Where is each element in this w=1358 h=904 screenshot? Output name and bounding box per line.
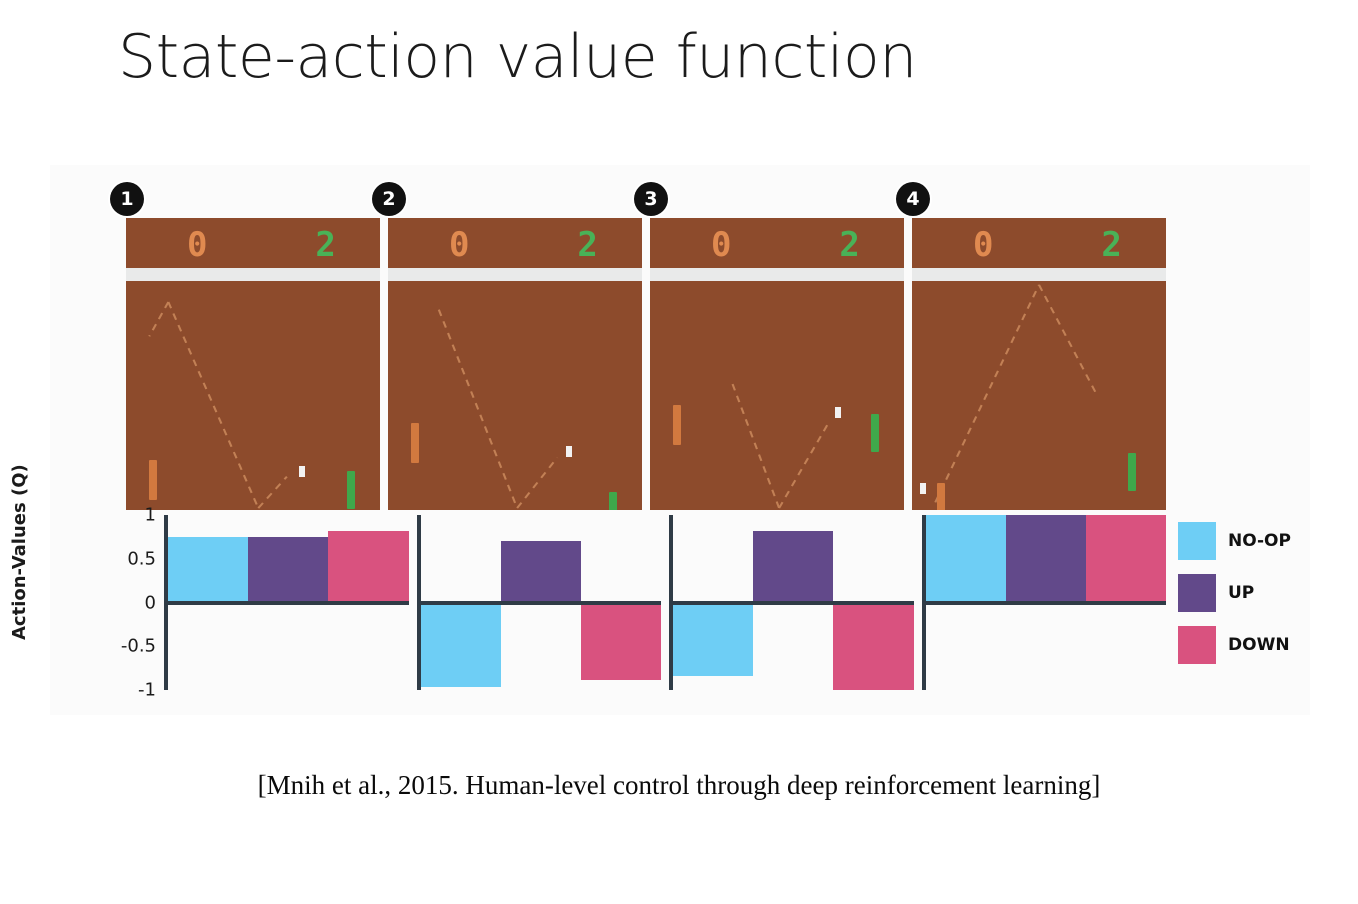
score-left: 0 xyxy=(449,228,470,262)
legend-swatch-down xyxy=(1178,626,1216,664)
bar-no-op[interactable] xyxy=(926,515,1006,603)
paddle-right-2 xyxy=(609,492,617,510)
y-tick: 1 xyxy=(145,505,156,526)
legend-swatch-no-op xyxy=(1178,522,1216,560)
chart-panels xyxy=(164,515,1166,690)
game-frame-3: 3 0 2 xyxy=(650,200,904,510)
bar-down[interactable] xyxy=(1086,515,1166,603)
action-values-chart: Action-Values (Q) 1 0.5 0 -0.5 -1 NO-OP … xyxy=(50,515,1310,710)
ball-trajectory-2 xyxy=(388,281,642,510)
divider-band xyxy=(388,268,642,281)
game-screen-3: 0 2 xyxy=(650,218,904,510)
game-screen-2: 0 2 xyxy=(388,218,642,510)
y-tick: 0 xyxy=(145,592,156,613)
bar-no-op[interactable] xyxy=(421,603,501,688)
ball-3 xyxy=(835,407,841,418)
score-left: 0 xyxy=(973,228,994,262)
ball-trajectory-1 xyxy=(126,281,380,510)
y-tick: 0.5 xyxy=(127,548,156,569)
divider-band xyxy=(912,268,1166,281)
score-band: 0 2 xyxy=(388,218,642,268)
bar-up[interactable] xyxy=(753,531,833,603)
divider-band xyxy=(650,268,904,281)
zero-baseline xyxy=(669,601,914,605)
paddle-right-4 xyxy=(1128,453,1136,491)
chart-panel-3 xyxy=(669,515,914,690)
frame-badge-1: 1 xyxy=(110,182,144,216)
playfield-3 xyxy=(650,281,904,510)
bar-up[interactable] xyxy=(1006,515,1086,603)
bar-down[interactable] xyxy=(581,603,661,680)
ball-1 xyxy=(299,466,305,477)
zero-baseline xyxy=(922,601,1167,605)
ball-4 xyxy=(920,483,926,494)
chart-panel-1 xyxy=(164,515,409,690)
score-right: 2 xyxy=(839,228,860,262)
score-left: 0 xyxy=(711,228,732,262)
y-tick: -1 xyxy=(138,680,156,701)
bar-no-op[interactable] xyxy=(168,537,248,603)
paddle-left-1 xyxy=(149,460,157,500)
bar-up[interactable] xyxy=(501,541,581,602)
frame-badge-3: 3 xyxy=(634,182,668,216)
score-right: 2 xyxy=(315,228,336,262)
frame-badge-2: 2 xyxy=(372,182,406,216)
legend-label-up: UP xyxy=(1228,583,1254,603)
frame-badge-4: 4 xyxy=(896,182,930,216)
legend-item-down: DOWN xyxy=(1178,619,1310,671)
game-screen-1: 0 2 xyxy=(126,218,380,510)
score-band: 0 2 xyxy=(650,218,904,268)
playfield-2 xyxy=(388,281,642,510)
score-band: 0 2 xyxy=(126,218,380,268)
zero-baseline xyxy=(417,601,662,605)
paddle-right-3 xyxy=(871,414,879,452)
legend-swatch-up xyxy=(1178,574,1216,612)
chart-legend: NO-OP UP DOWN xyxy=(1178,515,1310,671)
bar-down[interactable] xyxy=(833,603,913,691)
legend-item-no-op: NO-OP xyxy=(1178,515,1310,567)
game-frame-2: 2 0 2 xyxy=(388,200,642,510)
chart-panel-2 xyxy=(417,515,662,690)
playfield-1 xyxy=(126,281,380,510)
zero-baseline xyxy=(164,601,409,605)
game-frames-strip: 1 0 2 xyxy=(126,200,1166,510)
legend-item-up: UP xyxy=(1178,567,1310,619)
game-screen-4: 0 2 xyxy=(912,218,1166,510)
paddle-left-2 xyxy=(411,423,419,463)
bar-up[interactable] xyxy=(248,537,328,603)
figure-panel: 1 0 2 xyxy=(50,165,1310,715)
bar-down[interactable] xyxy=(328,531,408,603)
divider-band xyxy=(126,268,380,281)
score-band: 0 2 xyxy=(912,218,1166,268)
bar-no-op[interactable] xyxy=(673,603,753,677)
playfield-4 xyxy=(912,281,1166,510)
legend-label-down: DOWN xyxy=(1228,635,1290,655)
y-axis-ticks: 1 0.5 0 -0.5 -1 xyxy=(104,515,160,690)
paddle-right-1 xyxy=(347,471,355,509)
game-frame-1: 1 0 2 xyxy=(126,200,380,510)
score-right: 2 xyxy=(1101,228,1122,262)
game-frame-4: 4 0 2 xyxy=(912,200,1166,510)
legend-label-no-op: NO-OP xyxy=(1228,531,1291,551)
score-right: 2 xyxy=(577,228,598,262)
paddle-left-4 xyxy=(937,483,945,510)
y-axis-label: Action-Values (Q) xyxy=(9,490,30,640)
ball-2 xyxy=(566,446,572,457)
chart-panel-4 xyxy=(922,515,1167,690)
score-left: 0 xyxy=(187,228,208,262)
figure-citation: [Mnih et al., 2015. Human-level control … xyxy=(0,770,1358,801)
page-title: State-action value function xyxy=(118,22,917,92)
paddle-left-3 xyxy=(673,405,681,445)
ball-trajectory-3 xyxy=(650,281,904,510)
y-tick: -0.5 xyxy=(121,636,156,657)
